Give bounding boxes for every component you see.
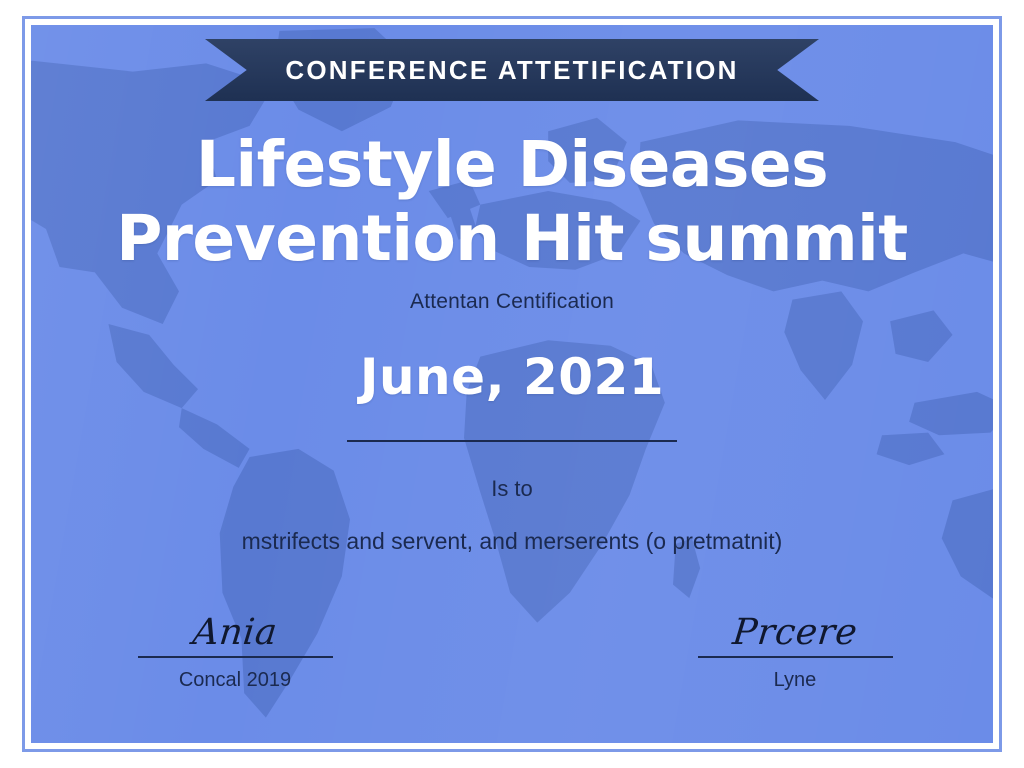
signature-line-left (138, 656, 333, 658)
conference-banner: CONFERENCE ATTETIFICATION (205, 39, 819, 101)
certificate-date: June, 2021 (0, 348, 1024, 406)
signature-name-right: Lyne (665, 669, 925, 692)
body-intro-line: Is to (0, 474, 1024, 504)
title-line-1: Lifestyle Diseases (0, 128, 1024, 202)
signature-block-left: Ania Concal 2019 (105, 612, 365, 692)
certificate-page: CONFERENCE ATTETIFICATION Lifestyle Dise… (0, 0, 1024, 768)
certificate-body: Is to mstrifects and servent, and merser… (0, 474, 1024, 556)
signature-name-left: Concal 2019 (105, 669, 365, 692)
signature-script-right: Prcere (663, 612, 927, 654)
title-divider-rule (347, 440, 677, 442)
signature-block-right: Prcere Lyne (665, 612, 925, 692)
certificate-title: Lifestyle Diseases Prevention Hit summit (0, 128, 1024, 276)
signature-row: Ania Concal 2019 Prcere Lyne OFFICIAL PR… (0, 612, 1024, 722)
title-line-2: Prevention Hit summit (0, 202, 1024, 276)
certificate-subtitle: Attentan Centification (0, 290, 1024, 314)
body-main-line: mstrifects and servent, and merserents (… (0, 526, 1024, 556)
signature-line-right (698, 656, 893, 658)
banner-label: CONFERENCE ATTETIFICATION (285, 55, 738, 86)
certificate-content: CONFERENCE ATTETIFICATION Lifestyle Dise… (0, 0, 1024, 768)
signature-script-left: Ania (103, 612, 367, 654)
